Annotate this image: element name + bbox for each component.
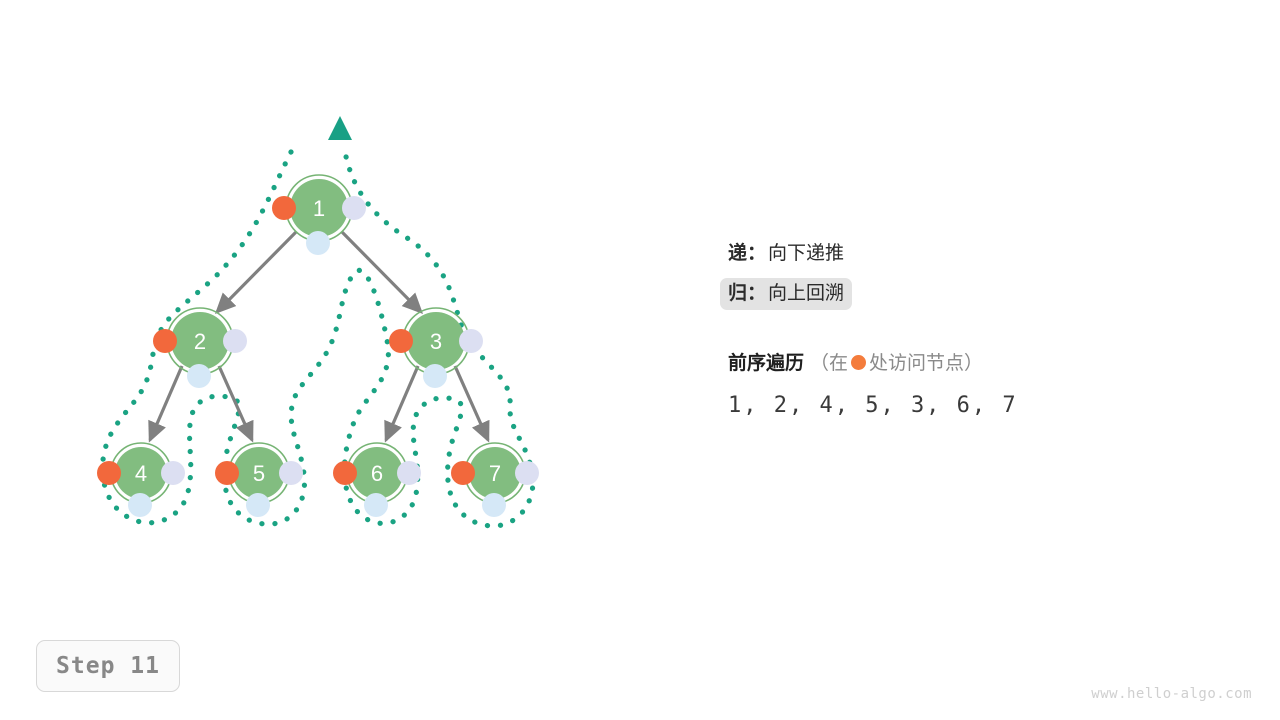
traversal-note-after: 处访问节点）: [869, 353, 983, 374]
traversal-sequence: 1, 2, 4, 5, 3, 6, 7: [728, 393, 1148, 418]
node-bottom-dot-icon: [306, 231, 330, 255]
legend-panel: 递： 向下递推 归： 向上回溯 前序遍历（在处访问节点） 1, 2, 4, 5,…: [728, 238, 1148, 418]
node-visit-dot-icon: [389, 329, 413, 353]
node-bottom-dot-icon: [482, 493, 506, 517]
node-label: 5: [253, 461, 265, 486]
node-right-dot-icon: [515, 461, 539, 485]
tree-node-5: 5: [215, 443, 303, 517]
node-bottom-dot-icon: [187, 364, 211, 388]
node-right-dot-icon: [223, 329, 247, 353]
edge-1-3: [342, 232, 421, 312]
traversal-block: 前序遍历（在处访问节点） 1, 2, 4, 5, 3, 6, 7: [728, 348, 1148, 418]
node-visit-dot-icon: [153, 329, 177, 353]
step-badge: Step 11: [36, 640, 180, 692]
tree-node-3: 3: [389, 308, 483, 388]
legend-down-value: 向下递推: [768, 242, 844, 266]
node-bottom-dot-icon: [128, 493, 152, 517]
node-right-dot-icon: [279, 461, 303, 485]
legend-recursion-down: 递： 向下递推: [720, 238, 852, 270]
tree-node-6: 6: [333, 443, 421, 517]
node-label: 1: [313, 196, 325, 221]
traversal-heading: 前序遍历（在处访问节点）: [728, 348, 1148, 375]
edge-2-4: [150, 366, 182, 440]
tree-node-7: 7: [451, 443, 539, 517]
node-right-dot-icon: [161, 461, 185, 485]
recursion-pointer-icon: [328, 116, 352, 140]
visit-marker-icon: [851, 355, 866, 370]
legend-up-key: 归：: [728, 282, 766, 306]
node-label: 7: [489, 461, 501, 486]
node-right-dot-icon: [342, 196, 366, 220]
legend-down-key: 递：: [728, 242, 766, 266]
node-label: 2: [194, 329, 206, 354]
watermark: www.hello-algo.com: [1091, 686, 1252, 702]
node-visit-dot-icon: [451, 461, 475, 485]
node-bottom-dot-icon: [423, 364, 447, 388]
tree-node-4: 4: [97, 443, 185, 517]
node-bottom-dot-icon: [364, 493, 388, 517]
node-visit-dot-icon: [97, 461, 121, 485]
node-label: 3: [430, 329, 442, 354]
traversal-title: 前序遍历: [728, 353, 804, 374]
node-label: 4: [135, 461, 147, 486]
node-visit-dot-icon: [272, 196, 296, 220]
node-visit-dot-icon: [215, 461, 239, 485]
legend-recursion-up: 归： 向上回溯: [720, 278, 852, 310]
node-label: 6: [371, 461, 383, 486]
node-right-dot-icon: [397, 461, 421, 485]
node-visit-dot-icon: [333, 461, 357, 485]
edge-1-2: [217, 232, 296, 312]
legend-up-value: 向上回溯: [768, 282, 844, 306]
node-right-dot-icon: [459, 329, 483, 353]
traversal-note-before: （在: [810, 353, 848, 374]
tree-nodes: 1234567: [97, 175, 539, 517]
node-bottom-dot-icon: [246, 493, 270, 517]
